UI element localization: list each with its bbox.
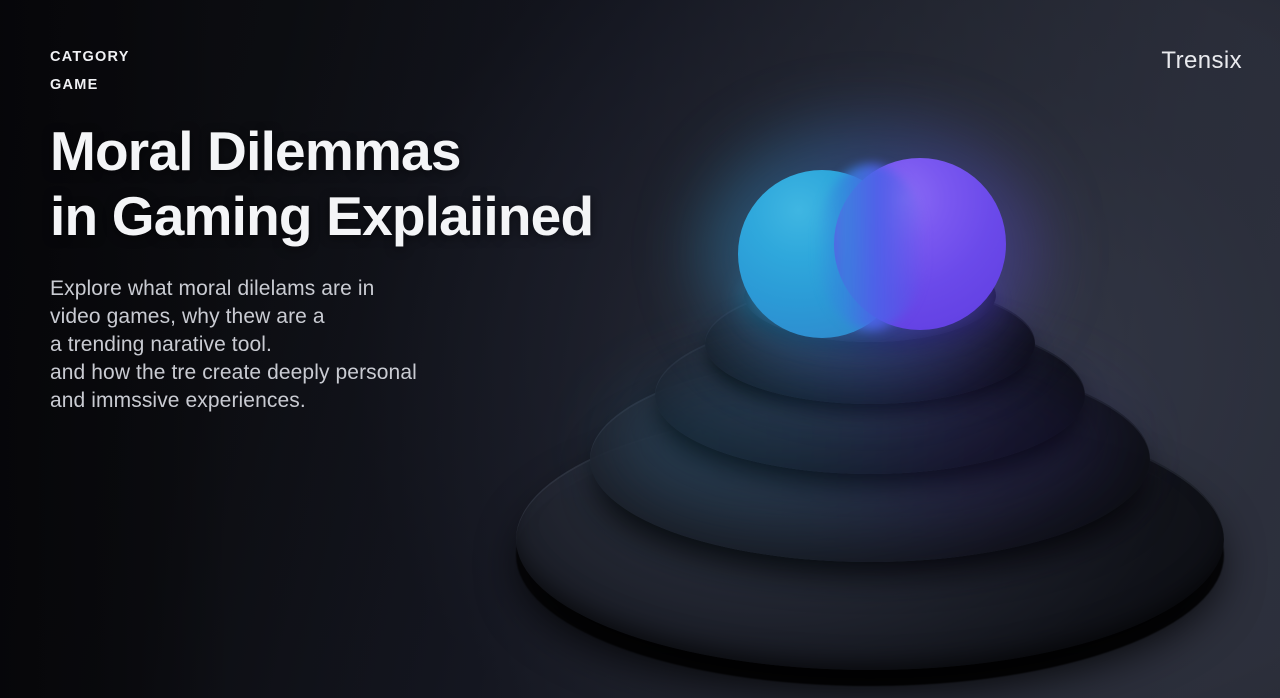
page-title: Moral Dilemmas in Gaming Explaiined [50,119,670,249]
poster-canvas: CATGORY GAME Moral Dilemmas in Gaming Ex… [0,0,1280,698]
description-line: Explore what moral dilelams are in [50,275,670,303]
gradient-circles-group [738,158,1002,344]
brand-logo-text: Trensix [1161,47,1242,75]
description-line: video games, why thew are a [50,303,670,331]
description-line: and immssive experiences. [50,387,670,415]
category-eyebrow: CATGORY GAME [50,44,670,99]
category-label: CATGORY [50,44,670,72]
page-title-line-2: in Gaming Explaiined [50,184,670,249]
description-text: Explore what moral dilelams are in video… [50,275,670,416]
text-content: CATGORY GAME Moral Dilemmas in Gaming Ex… [50,44,670,416]
category-value-game: GAME [50,72,670,100]
description-line: and how the tre create deeply personal [50,359,670,387]
circles-blend-seam [816,164,926,330]
page-title-line-1: Moral Dilemmas [50,119,670,184]
description-line: a trending narative tool. [50,331,670,359]
